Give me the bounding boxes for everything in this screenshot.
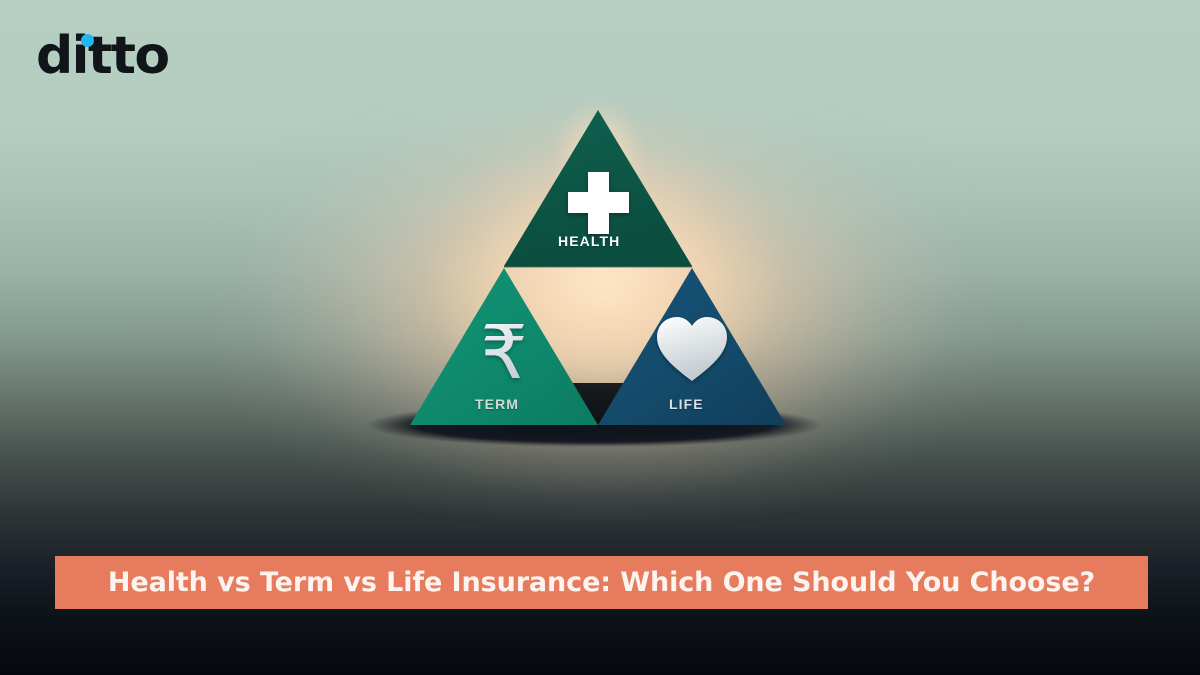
brand-logo[interactable]: ditto: [36, 30, 169, 82]
pyramid-label-health: HEALTH: [558, 233, 620, 249]
headline-banner: Health vs Term vs Life Insurance: Which …: [55, 556, 1148, 609]
apex-glow: [540, 76, 658, 226]
poster-canvas: ditto: [0, 0, 1200, 675]
ground-shadow-ellipse: [366, 403, 822, 447]
warm-glow-backdrop: [215, 60, 995, 520]
svg-text:₹: ₹: [480, 310, 527, 396]
indian-rupee-icon: ₹: [480, 310, 527, 396]
brand-logo-text: ditto: [36, 30, 169, 82]
pyramid-label-term: TERM: [475, 396, 519, 412]
medical-cross-icon: [568, 172, 629, 234]
heart-icon: [657, 317, 727, 381]
headline-text: Health vs Term vs Life Insurance: Which …: [108, 567, 1095, 598]
brand-logo-dot-icon: [81, 34, 94, 47]
pyramid-label-life: LIFE: [669, 396, 704, 412]
